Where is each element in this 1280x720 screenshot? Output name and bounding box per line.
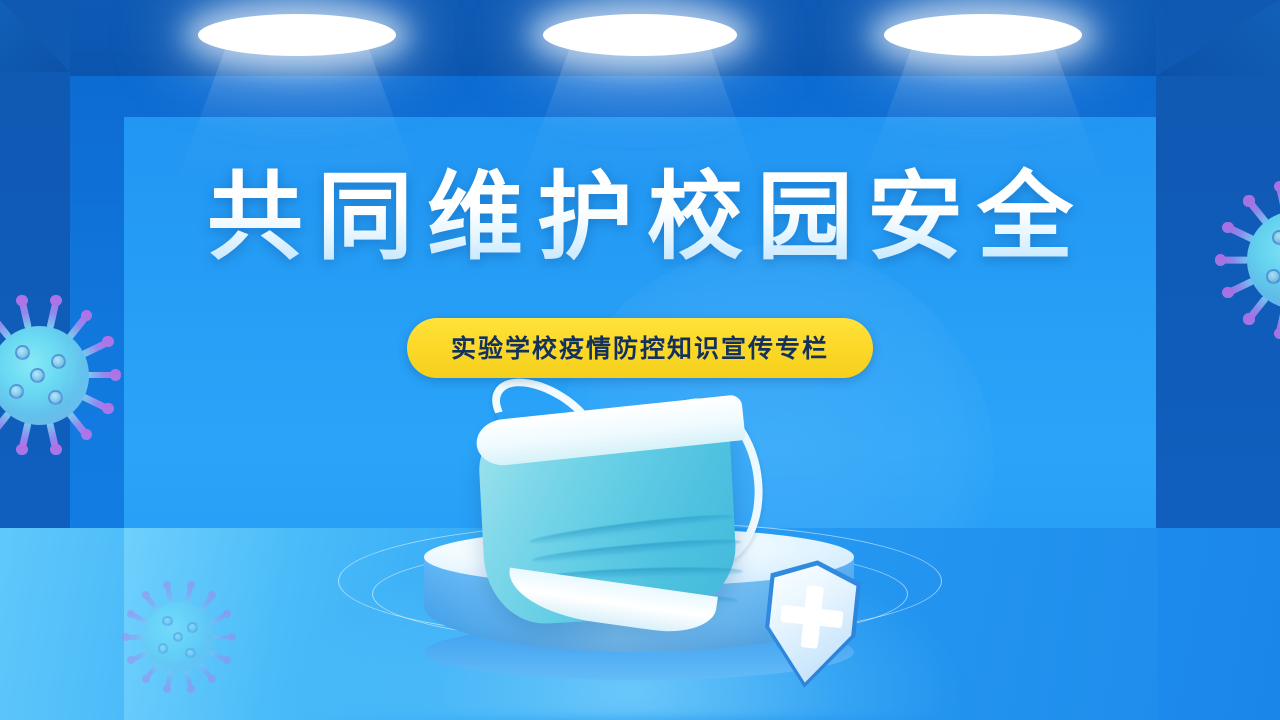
virus-dimple: [9, 384, 24, 399]
virus-spike-knob: [223, 610, 231, 618]
virus-spike-knob: [187, 685, 195, 693]
ceiling-lamp-left: [198, 14, 396, 56]
title-block: 共同维护校园安全: [0, 165, 1280, 269]
ceiling-lamp-center: [543, 14, 737, 56]
virus-dimple: [185, 648, 196, 659]
virus-dimple: [187, 622, 198, 633]
virus-bottom-left: [126, 584, 232, 690]
virus-spike-knob: [208, 591, 216, 599]
virus-spike-knob: [187, 581, 195, 589]
virus-spike-knob: [102, 403, 113, 414]
virus-spike-knob: [223, 656, 231, 664]
subtitle-block: 实验学校疫情防控知识宣传专栏: [0, 318, 1280, 378]
surgical-mask-icon: [462, 392, 792, 632]
virus-spike-knob: [50, 295, 61, 306]
virus-spike-knob: [127, 656, 135, 664]
subtitle-badge: 实验学校疫情防控知识宣传专栏: [407, 318, 873, 378]
virus-dimple: [162, 616, 173, 627]
virus-dimple: [48, 390, 63, 405]
virus-spike-knob: [1222, 287, 1233, 298]
virus-spike-knob: [127, 610, 135, 618]
virus-spike-knob: [142, 675, 150, 683]
virus-spike-knob: [50, 444, 61, 455]
virus-dimple: [1266, 269, 1280, 284]
virus-spike-knob: [122, 633, 130, 641]
virus-spike-knob: [16, 295, 27, 306]
ceiling-lamp-right: [884, 14, 1082, 56]
virus-spike-knob: [81, 429, 92, 440]
shield-cross-icon: [751, 555, 872, 694]
virus-spike-knob: [16, 444, 27, 455]
virus-spike-knob: [208, 675, 216, 683]
poster-canvas: 共同维护校园安全 实验学校疫情防控知识宣传专栏: [0, 0, 1280, 720]
page-title: 共同维护校园安全: [193, 165, 1087, 269]
virus-spike-knob: [163, 685, 171, 693]
